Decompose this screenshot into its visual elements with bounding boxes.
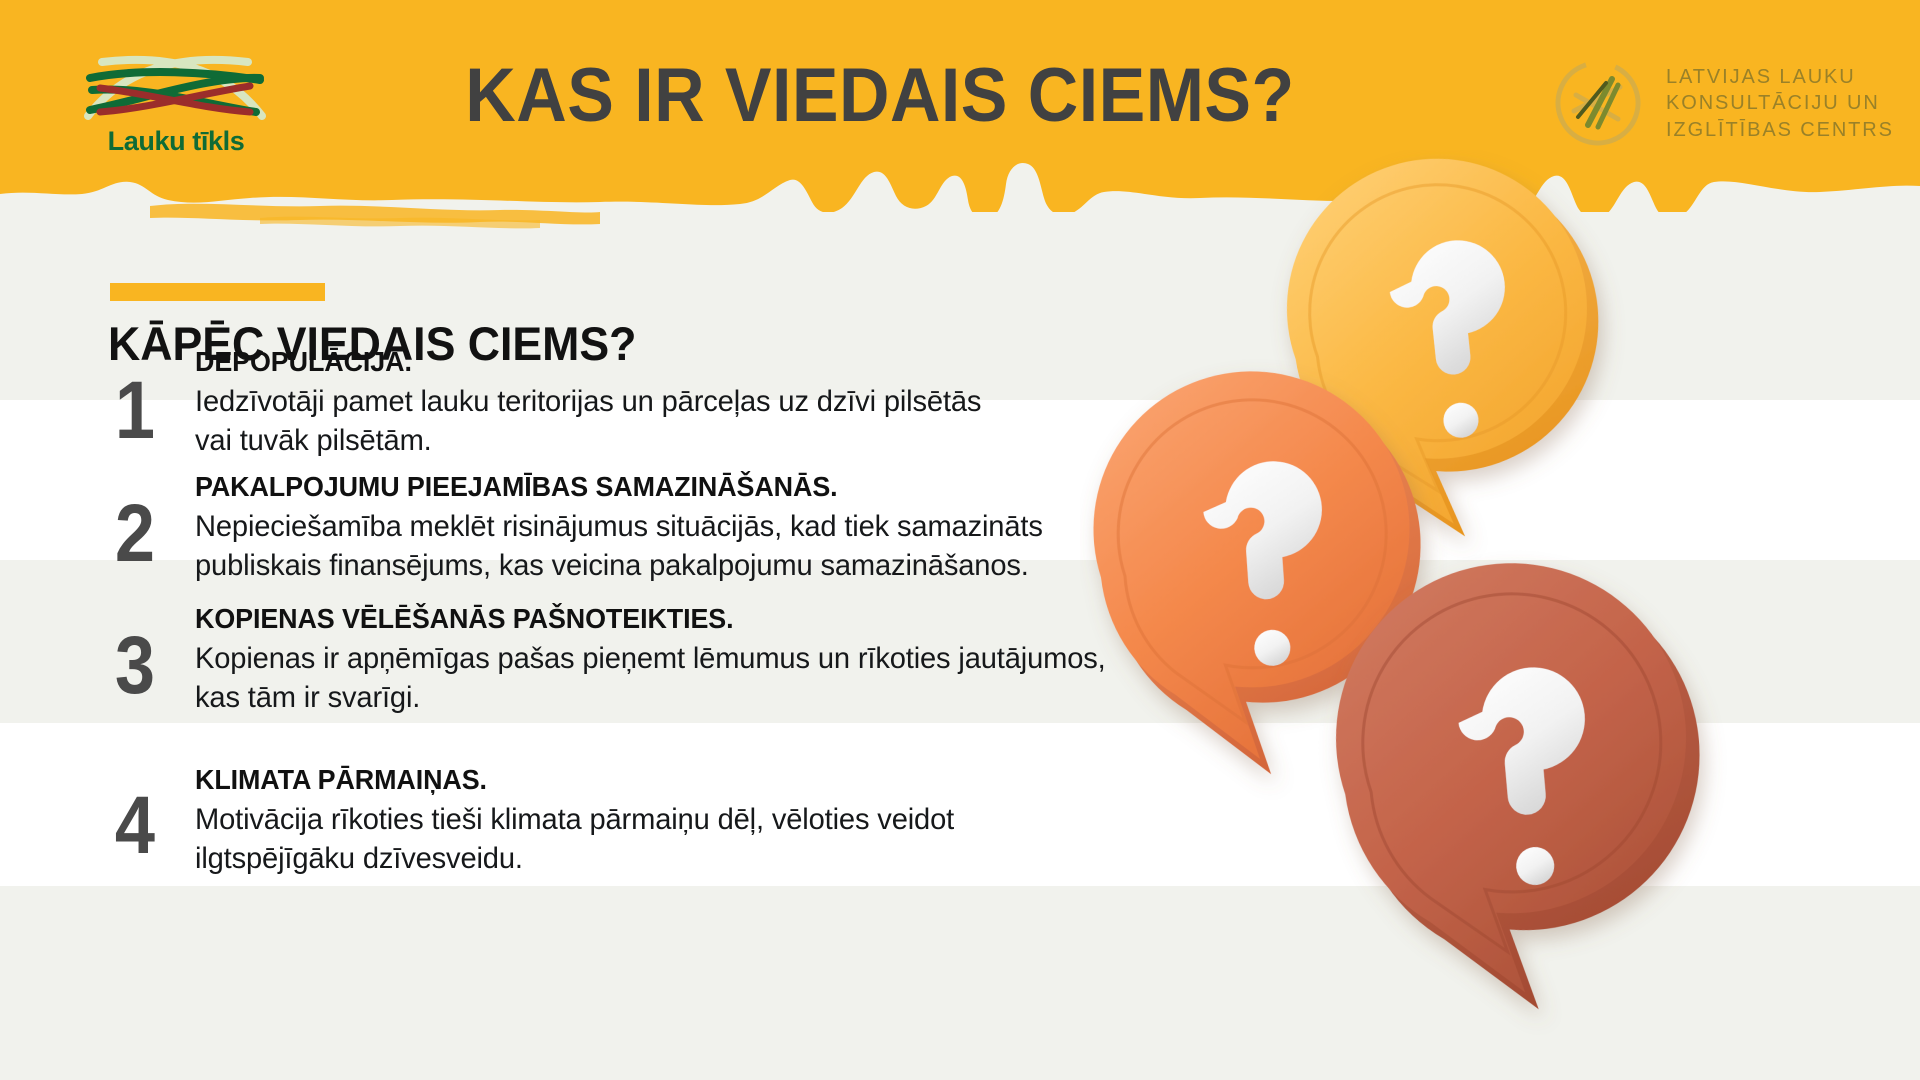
item-number: 3 xyxy=(104,625,166,707)
item-number: 4 xyxy=(104,785,166,867)
slide-root: Lauku tīkls KAS IR VIEDAIS CIEMS? LATVIJ… xyxy=(0,0,1920,1080)
question-bubbles-illustration xyxy=(1080,150,1920,1080)
item-number: 2 xyxy=(104,493,166,575)
item-number: 1 xyxy=(104,370,166,452)
